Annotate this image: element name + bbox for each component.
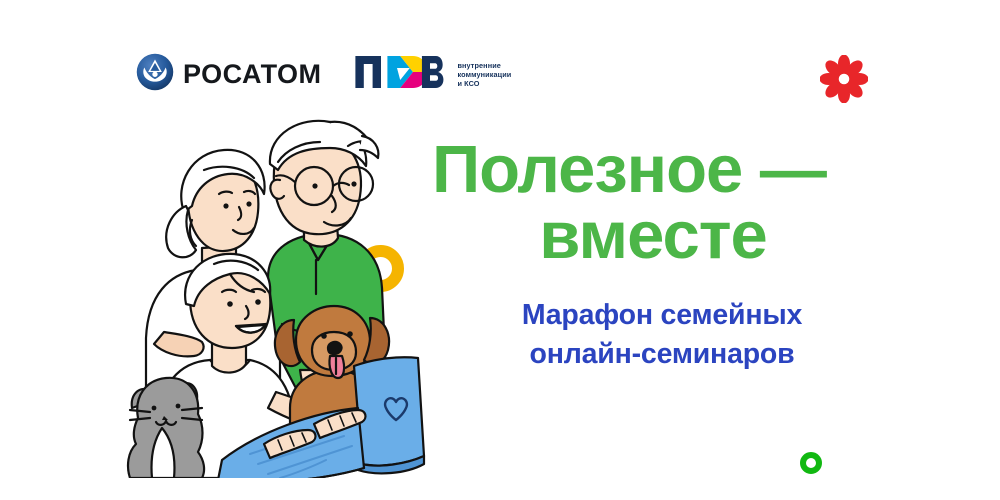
pkv-mark-icon <box>353 52 449 97</box>
subtitle-line-1: Марафон семейных <box>432 296 892 335</box>
subtitle-line-2: онлайн-семинаров <box>432 335 892 374</box>
family-at-laptop-illustration <box>118 108 438 478</box>
headline-line-1: Полезное — <box>432 137 892 203</box>
headline: Полезное — вместе <box>432 137 892 270</box>
rosatom-wordmark: РОСАТОМ <box>183 61 321 88</box>
headline-line-2: вместе <box>432 203 892 269</box>
subtitle: Марафон семейных онлайн-семинаров <box>432 296 892 375</box>
atom-icon <box>136 53 174 96</box>
pkv-logo[interactable]: внутренние коммуникации и КСО <box>353 52 511 97</box>
ring-icon-green <box>800 452 822 474</box>
logo-row: РОСАТОМ внутренние коммуникации и КСО <box>136 52 511 97</box>
pkv-caption: внутренние коммуникации и КСО <box>457 61 511 89</box>
flower-icon <box>820 55 868 103</box>
promo-banner: РОСАТОМ внутренние коммуникации и КСО <box>0 0 1000 500</box>
rosatom-logo[interactable]: РОСАТОМ <box>136 53 321 96</box>
